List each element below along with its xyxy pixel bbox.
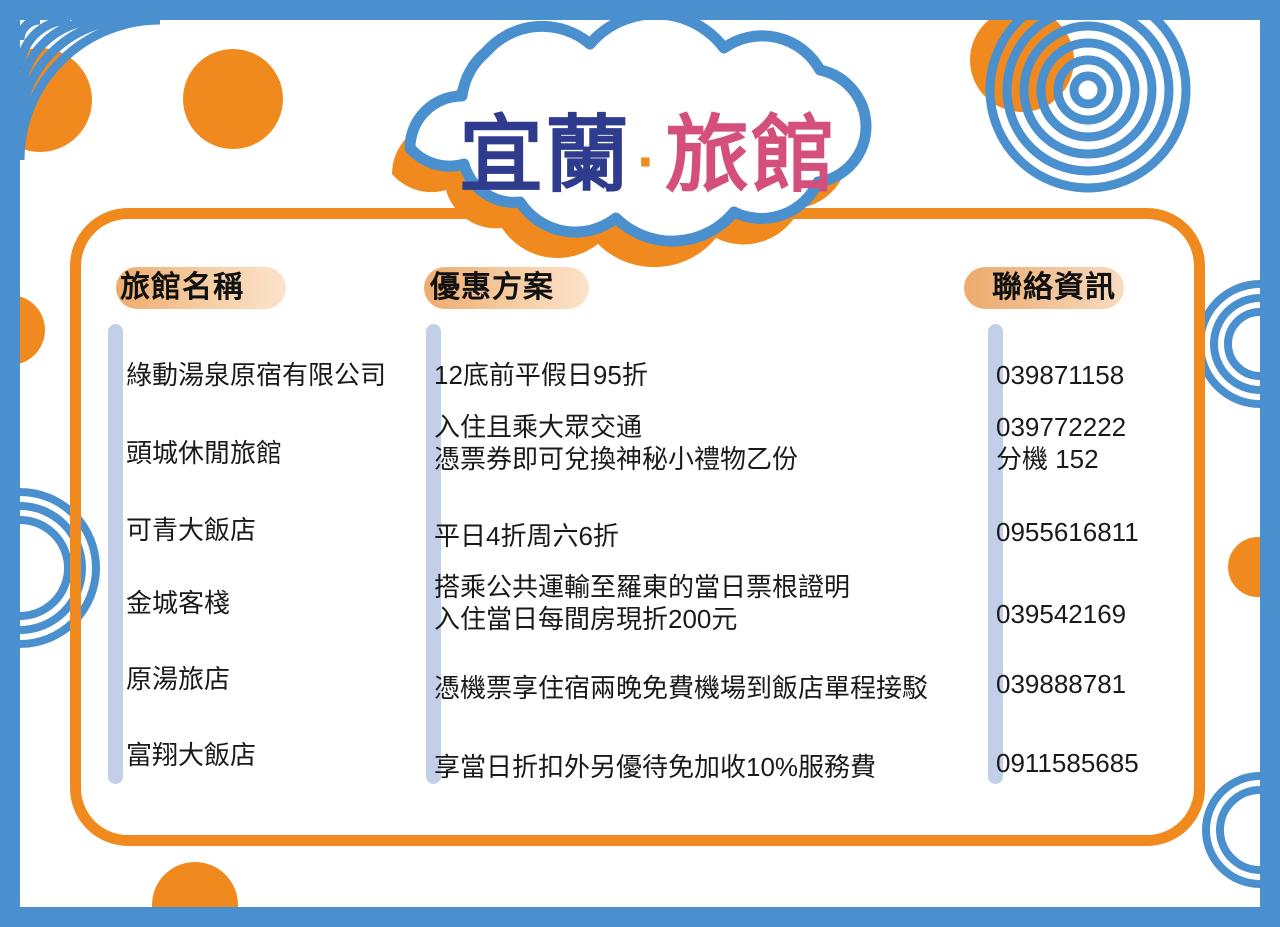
cell-hotel-name: 原湯旅店 <box>126 664 426 696</box>
cell-offer: 憑機票享住宿兩晚免費機場到飯店單程接駁 <box>434 673 994 705</box>
cell-contact: 039542169 <box>996 599 1186 631</box>
cell-offer: 享當日折扣外另優待免加收10%服務費 <box>434 752 994 784</box>
cell-hotel-name: 富翔大飯店 <box>126 740 426 772</box>
column-accent-bar-name <box>108 324 123 784</box>
table-header-contact: 聯絡資訊 <box>992 266 1116 310</box>
poster-canvas: 宜蘭·旅館 旅館名稱 優惠方案 聯絡資訊 綠動湯泉原宿有限公司 12底 <box>0 0 1280 927</box>
cell-contact: 0955616811 <box>996 517 1186 549</box>
cell-hotel-name: 頭城休閒旅館 <box>126 438 426 470</box>
cell-contact: 039871158 <box>996 360 1186 392</box>
cell-offer: 入住且乘大眾交通 憑票券即可兌換神秘小禮物乙份 <box>434 412 994 475</box>
cell-hotel-name: 綠動湯泉原宿有限公司 <box>126 360 426 392</box>
cell-contact: 039772222 分機 152 <box>996 412 1186 475</box>
table-header-offer: 優惠方案 <box>430 266 554 310</box>
cell-offer: 平日4折周六6折 <box>434 521 994 553</box>
cell-offer: 12底前平假日95折 <box>434 360 994 392</box>
cell-offer: 搭乘公共運輸至羅東的當日票根證明 入住當日每間房現折200元 <box>434 572 994 635</box>
cell-hotel-name: 金城客棧 <box>126 588 426 620</box>
cell-hotel-name: 可青大飯店 <box>126 515 426 547</box>
cell-contact: 039888781 <box>996 669 1186 701</box>
table-header-row: 旅館名稱 優惠方案 聯絡資訊 <box>108 262 1178 318</box>
column-accent-bar-contact <box>988 324 1003 784</box>
column-accent-bar-offer <box>426 324 441 784</box>
table-header-hotel-name: 旅館名稱 <box>120 266 244 310</box>
title-cloud <box>290 18 970 280</box>
hotel-offers-table: 旅館名稱 優惠方案 聯絡資訊 綠動湯泉原宿有限公司 12底前平假日95折 039… <box>108 262 1178 810</box>
cell-contact: 0911585685 <box>996 748 1186 780</box>
